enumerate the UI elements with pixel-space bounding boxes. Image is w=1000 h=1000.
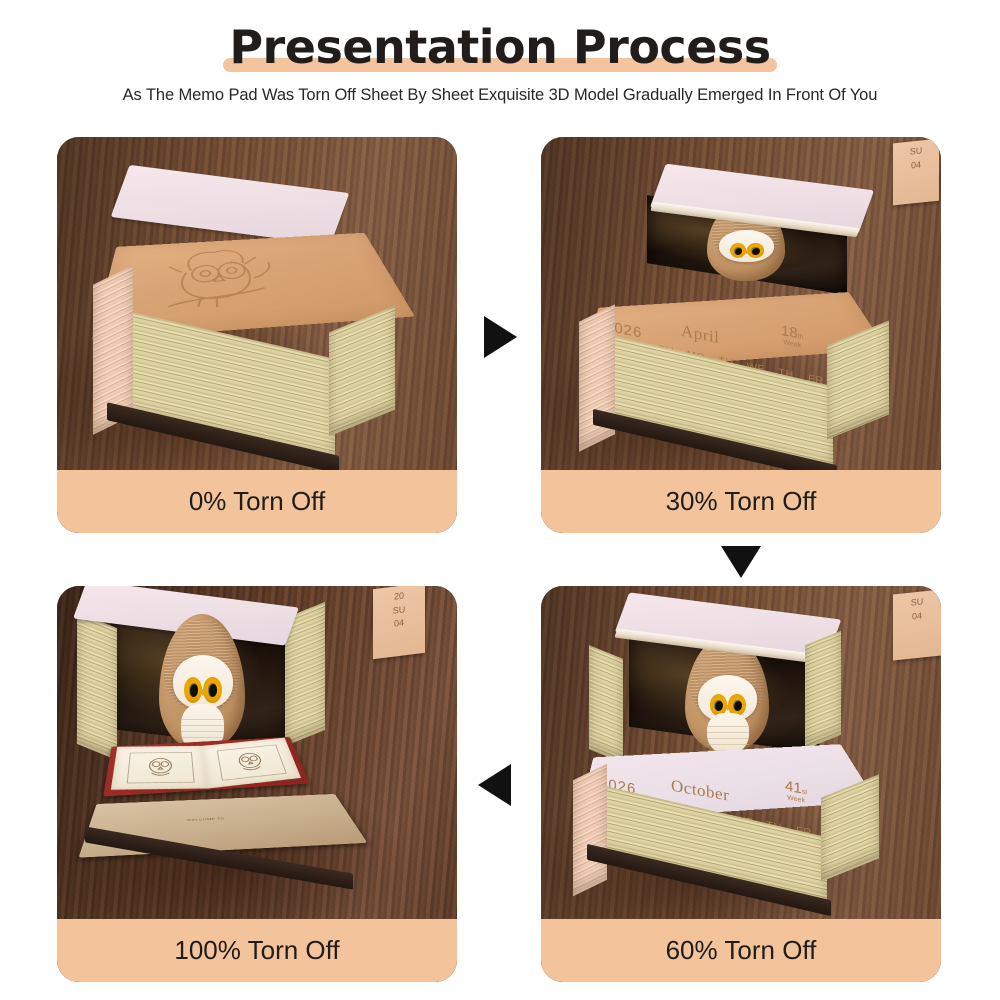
owl-emboss-icon — [136, 242, 302, 319]
caption-bar-60-percent: 60% Torn Off — [541, 919, 941, 982]
owl-eye-right — [747, 243, 763, 258]
caption-text-0-percent: 0% Torn Off — [189, 486, 325, 517]
owl-figure-full — [159, 614, 245, 750]
open-book — [103, 737, 310, 797]
pad-right-edge-stack — [329, 306, 395, 437]
memo-pad-30: 2026 April 18th Week SUMOTUWETHFRSA 2627… — [589, 163, 909, 483]
calendar-week-ordinal: th — [798, 333, 804, 341]
caption-text-30-percent: 30% Torn Off — [666, 486, 817, 517]
caption-bar-30-percent: 30% Torn Off — [541, 470, 941, 533]
calendar-week-badge: 41st Week — [785, 779, 807, 805]
caption-bar-0-percent: 0% Torn Off — [57, 470, 457, 533]
arrow-left-icon — [478, 764, 511, 806]
arrow-right-icon — [484, 316, 517, 358]
owl-sketch-icon — [127, 752, 194, 783]
pad-side-edge-stack — [579, 304, 615, 452]
page-subtitle: As The Memo Pad Was Torn Off Sheet By Sh… — [0, 86, 1000, 105]
memo-pad-60: 2026 October 41st Week SUMOTUWETHFRSA 04… — [575, 596, 905, 926]
owl-face — [173, 655, 233, 709]
page-header: Presentation Process As The Memo Pad Was… — [0, 0, 1000, 132]
pad-right-wall-stack — [805, 631, 841, 750]
owl-sketch-icon — [217, 745, 287, 781]
tray-label: WELCOME TO — [187, 818, 225, 822]
arrow-down-icon — [721, 546, 761, 578]
panel-60-percent[interactable]: SU 04 2026 October 41st — [541, 586, 941, 982]
book-page-left — [111, 746, 209, 790]
calendar-week-badge: 18th Week — [781, 323, 804, 350]
panel-100-percent[interactable]: 20 SU 04 — [57, 586, 457, 982]
owl-chest — [707, 713, 749, 755]
caption-text-100-percent: 100% Torn Off — [174, 935, 339, 966]
pad-left-wall-stack — [77, 612, 117, 760]
panel-0-percent[interactable]: 0% Torn Off — [57, 137, 457, 533]
page-title-wrap: Presentation Process — [229, 24, 770, 70]
memo-pad-closed — [101, 179, 401, 479]
caption-text-60-percent: 60% Torn Off — [666, 935, 817, 966]
owl-chest-feathers — [707, 726, 749, 752]
owl-face — [719, 230, 774, 262]
pad-left-wall-stack — [589, 645, 623, 763]
owl-eye-right — [203, 677, 221, 703]
panel-30-percent[interactable]: SU 04 2026 April 18th Week SUMOTU — [541, 137, 941, 533]
caption-bar-100-percent: 100% Torn Off — [57, 919, 457, 982]
page-title: Presentation Process — [229, 24, 770, 70]
calendar-week-ordinal: st — [802, 789, 807, 797]
memo-pad-fully-torn: WELCOME TO — [71, 596, 401, 926]
pad-side-edge-stack — [573, 764, 607, 897]
